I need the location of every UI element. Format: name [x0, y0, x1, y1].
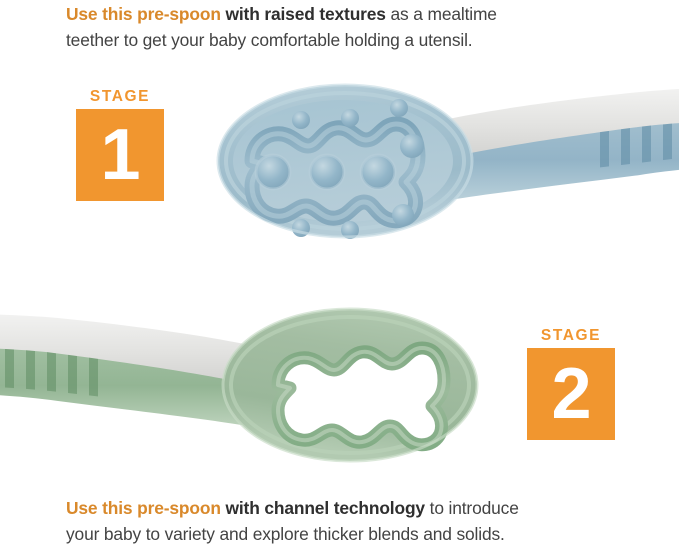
infographic-canvas: Use this pre-spoon with raised textures … — [0, 0, 679, 551]
caption-top-line2: teether to get your baby comfortable hol… — [66, 27, 626, 53]
caption-top: Use this pre-spoon with raised textures … — [66, 1, 626, 53]
caption-bottom-lead: Use this pre-spoon — [66, 498, 221, 518]
caption-top-rest: as a mealtime — [386, 4, 497, 24]
stage-1-spoon-image — [200, 60, 679, 260]
caption-bottom: Use this pre-spoon with channel technolo… — [66, 495, 626, 547]
stage-1-badge: STAGE 1 — [76, 88, 164, 201]
stage-2-spoon-image — [0, 282, 498, 482]
stage-1-spoon-head — [218, 85, 472, 239]
stage-2-spoon-handle — [0, 314, 256, 426]
caption-bottom-rest: to introduce — [425, 498, 519, 518]
caption-bottom-line2: your baby to variety and explore thicker… — [66, 521, 626, 547]
stage-2-badge: STAGE 2 — [527, 327, 615, 440]
caption-top-lead: Use this pre-spoon — [66, 4, 221, 24]
stage-1-number: 1 — [76, 109, 164, 201]
stage-2-number: 2 — [527, 348, 615, 440]
stage-2-channel-cutout — [278, 348, 444, 445]
stage-2-label: STAGE — [527, 327, 615, 345]
stage-2-spoon-head — [223, 309, 477, 461]
caption-bottom-strong: with channel technology — [221, 498, 425, 518]
stage-1-label: STAGE — [76, 88, 164, 106]
caption-top-strong: with raised textures — [221, 4, 386, 24]
stage-1-spoon-handle — [441, 88, 679, 200]
